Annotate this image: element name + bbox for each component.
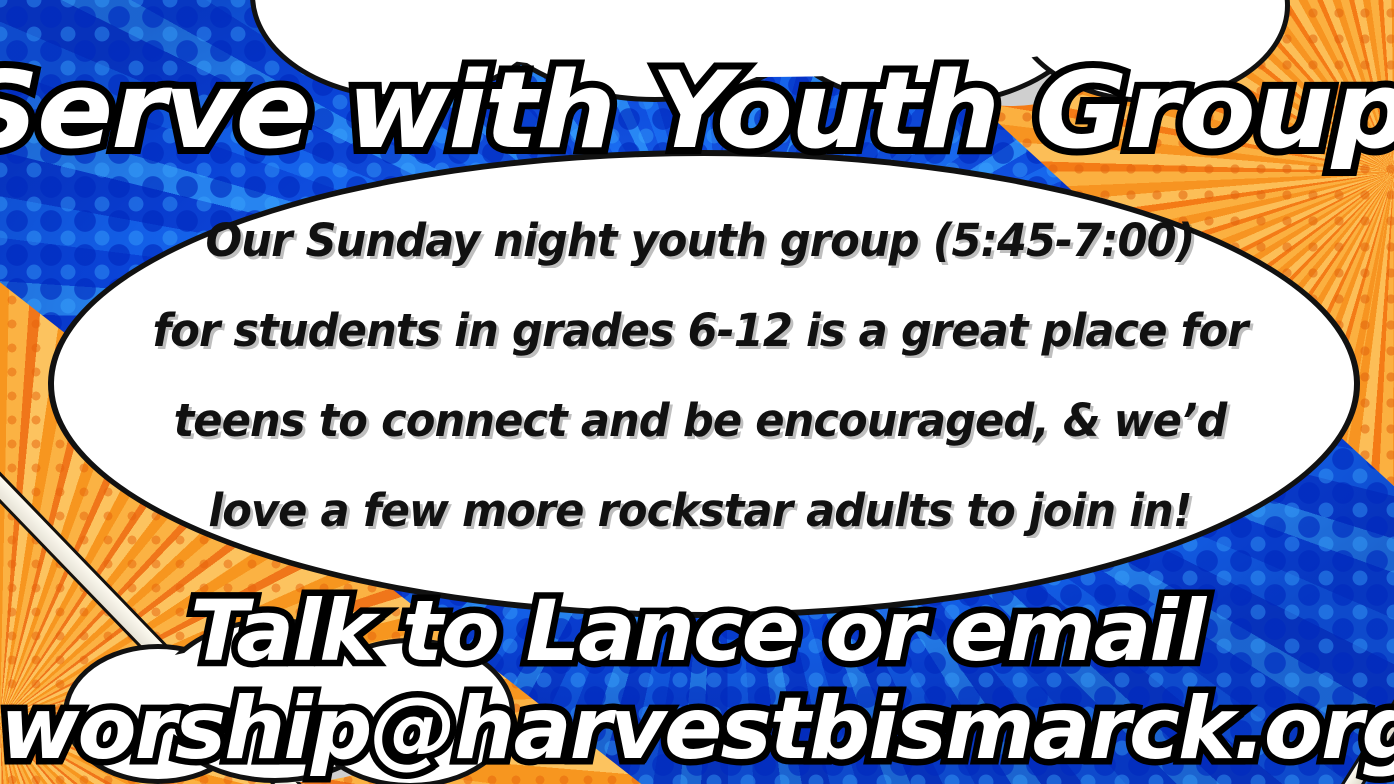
poster-canvas: Serve with Youth Group! Our Sunday night…: [0, 0, 1394, 784]
call-to-action: Talk to Lance or email worship@harvestbi…: [0, 582, 1394, 778]
cta-contact-line: Talk to Lance or email: [0, 582, 1394, 680]
page-title: Serve with Youth Group!: [0, 58, 1394, 164]
body-text-line-4: love a few more rockstar adults to join …: [134, 466, 1267, 556]
body-text-line-3: teens to connect and be encouraged, & we…: [134, 376, 1267, 466]
body-text: Our Sunday night youth group (5:45-7:00)…: [110, 196, 1290, 556]
body-text-line-1: Our Sunday night youth group (5:45-7:00): [134, 196, 1267, 286]
cta-email-address[interactable]: worship@harvestbismarck.org: [0, 680, 1394, 778]
body-text-line-2: for students in grades 6-12 is a great p…: [134, 286, 1267, 376]
